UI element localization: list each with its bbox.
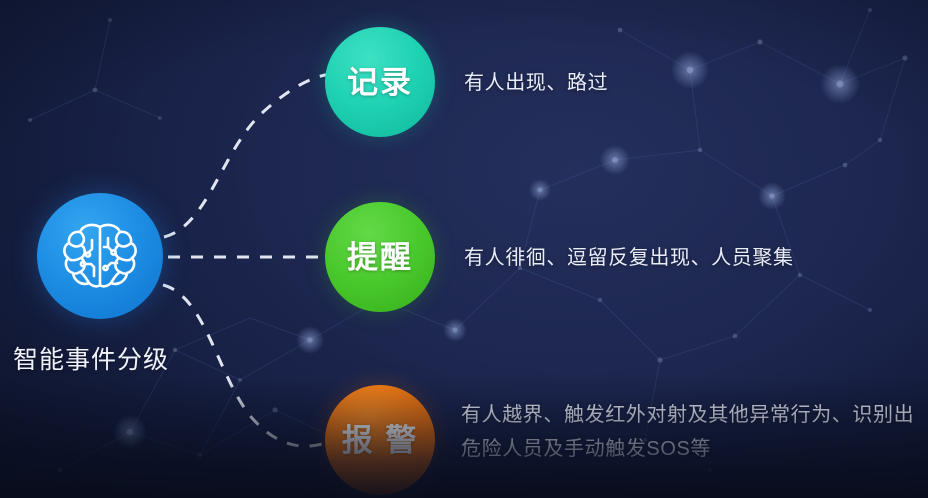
description-record: 有人出现、路过 (464, 66, 608, 100)
node-alarm-label: 报 警 (342, 425, 419, 456)
root-node-caption: 智能事件分级 (13, 340, 169, 376)
node-record-label: 记录 (347, 67, 413, 98)
node-remind[interactable]: 提醒 (325, 202, 435, 312)
connector-alarm (163, 285, 330, 446)
node-remind-label: 提醒 (347, 242, 413, 273)
root-node-smart-event-grading[interactable] (37, 193, 163, 319)
node-alarm[interactable]: 报 警 (325, 385, 435, 495)
brain-icon (61, 220, 139, 292)
diagram-canvas: 记录 提醒 报 警 智能事件分级 有人出现、路过 有人徘徊、逗留反复出现、人员聚… (0, 0, 928, 498)
node-record[interactable]: 记录 (325, 27, 435, 137)
description-alarm: 有人越界、触发红外对射及其他异常行为、识别出 危险人员及手动触发SOS等 (461, 398, 928, 466)
connector-record (164, 74, 330, 237)
description-remind: 有人徘徊、逗留反复出现、人员聚集 (464, 241, 794, 275)
